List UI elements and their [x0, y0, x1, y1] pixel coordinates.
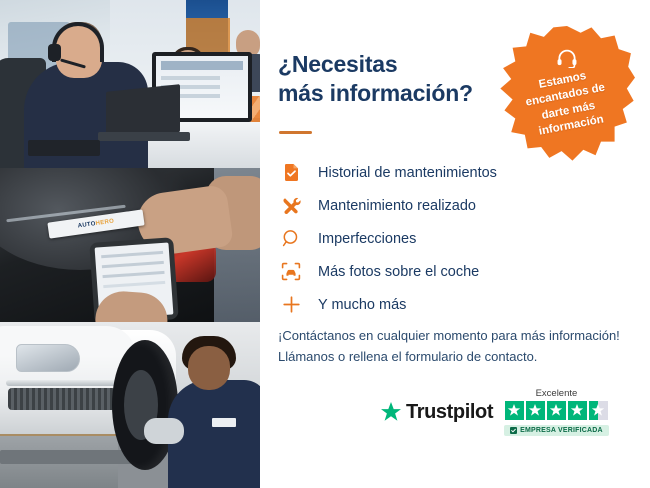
trustpilot-wordmark: Trustpilot [406, 401, 493, 424]
feature-item-maintenance-history[interactable]: Historial de mantenimientos [278, 156, 608, 189]
information-promo-card: AUTOHERO [0, 0, 650, 488]
contact-copy-line-1: ¡Contáctanos en cualquier momento para m… [278, 328, 620, 343]
feature-item-maintenance-done[interactable]: Mantenimiento realizado [278, 189, 608, 222]
trustpilot-rating: Excelente [504, 388, 609, 436]
feature-label: Historial de mantenimientos [304, 165, 497, 181]
call-center-agents-photo [0, 0, 260, 168]
verified-business-badge: EMPRESA VERIFICADA [504, 425, 609, 436]
photo-collage: AUTOHERO [0, 0, 260, 488]
page-title: ¿Necesitas más información? [278, 50, 473, 109]
feature-item-more-photos[interactable]: Más fotos sobre el coche [278, 255, 608, 288]
contact-copy-line-2: Llámanos o rellena el formulario de cont… [278, 349, 537, 364]
uniform-logo [212, 418, 236, 427]
headset-icon [556, 48, 578, 68]
mechanic-glove [144, 418, 184, 444]
trustpilot-star-icon [380, 402, 402, 423]
trustpilot-logo[interactable]: Trustpilot [380, 401, 493, 424]
feature-item-imperfections[interactable]: Imperfecciones [278, 222, 608, 255]
laptop-keyboard [98, 132, 190, 141]
workshop-wheel-check-photo [0, 322, 260, 488]
bumper-chrome-trim [6, 380, 126, 386]
magnifier-icon [278, 229, 304, 248]
page-title-line-2: más información? [278, 80, 473, 106]
trustpilot-widget[interactable]: Trustpilot Excelente [380, 388, 609, 436]
car-scan-icon [278, 262, 304, 281]
page-title-line-1: ¿Necesitas [278, 51, 397, 77]
feature-item-much-more[interactable]: Y mucho más [278, 288, 608, 321]
feature-list: Historial de mantenimientos Mantenimient… [278, 156, 608, 321]
plus-icon [278, 295, 304, 314]
title-divider [279, 131, 312, 134]
car-grille [8, 388, 116, 410]
star-filled [526, 401, 545, 420]
headset-earcup [48, 44, 61, 61]
autohero-ruler-label: AUTOHERO [77, 218, 114, 229]
trustpilot-rating-label: Excelente [536, 388, 578, 399]
star-filled [505, 401, 524, 420]
feature-label: Más fotos sobre el coche [304, 264, 479, 280]
clipboard-check-icon [278, 163, 304, 182]
desk-tablet [28, 140, 100, 156]
tools-icon [278, 196, 304, 215]
feature-label: Mantenimiento realizado [304, 198, 476, 214]
star-filled [568, 401, 587, 420]
support-badge: Estamos encantados de darte más informac… [499, 26, 635, 162]
trustpilot-stars [505, 401, 608, 420]
vehicle-inspection-photo: AUTOHERO [0, 168, 260, 322]
car-headlight [16, 344, 80, 372]
information-panel: ¿Necesitas más información? Estamos enca… [260, 0, 650, 488]
star-half [589, 401, 608, 420]
feature-label: Y mucho más [304, 297, 406, 313]
verified-business-label: EMPRESA VERIFICADA [520, 427, 603, 434]
contact-copy: ¡Contáctanos en cualquier momento para m… [278, 325, 643, 367]
mechanic-head [188, 346, 230, 390]
feature-label: Imperfecciones [304, 231, 416, 247]
check-badge-icon [510, 427, 517, 434]
star-filled [547, 401, 566, 420]
